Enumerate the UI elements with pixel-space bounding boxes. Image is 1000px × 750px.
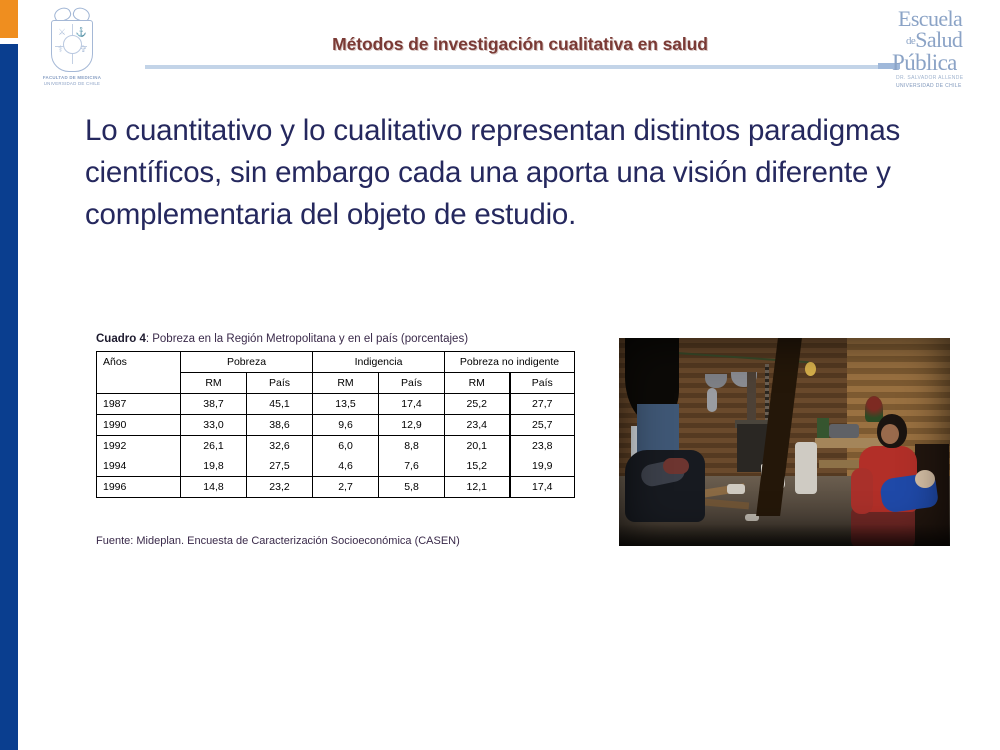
table-cell-value: 12,9 bbox=[379, 415, 445, 436]
page-title: Métodos de investigación cualitativa en … bbox=[140, 34, 900, 55]
table-subheader-blank bbox=[97, 373, 181, 394]
table-cell-value: 20,1 bbox=[445, 436, 510, 457]
table-cell-value: 2,7 bbox=[313, 477, 379, 498]
table-header-years: Años bbox=[97, 352, 181, 373]
esp-logo-sub-allende: DR. SALVADOR ALLENDE bbox=[896, 76, 963, 81]
table-cell-value: 15,2 bbox=[445, 456, 510, 477]
crest-shield-icon: ⚔ ⚓ ⚕ ✞ bbox=[51, 20, 93, 72]
table-caption: Cuadro 4: Pobreza en la Región Metropoli… bbox=[96, 333, 574, 345]
esp-logo-de: de bbox=[906, 35, 915, 47]
photo-vignette bbox=[619, 338, 950, 546]
table-cell-value: 7,6 bbox=[379, 456, 445, 477]
table-cell-value: 25,2 bbox=[445, 394, 510, 415]
statistics-table-block: Cuadro 4: Pobreza en la Región Metropoli… bbox=[96, 333, 574, 498]
table-cell-year: 1996 bbox=[97, 477, 181, 498]
esp-logo-salud: Salud bbox=[915, 27, 962, 52]
table-cell-year: 1992 bbox=[97, 436, 181, 457]
table-subheader-pobreza-pais: País bbox=[247, 373, 313, 394]
table-cell-value: 32,6 bbox=[247, 436, 313, 457]
slide-header: ⚔ ⚓ ⚕ ✞ FACULTAD DE MEDICINA UNIVERSIDAD… bbox=[0, 0, 1000, 100]
table-cell-value: 9,6 bbox=[313, 415, 379, 436]
table-cell-year: 1990 bbox=[97, 415, 181, 436]
table-cell-value: 17,4 bbox=[379, 394, 445, 415]
table-cell-value: 23,4 bbox=[445, 415, 510, 436]
table-cell-value: 38,7 bbox=[181, 394, 247, 415]
table-cell-value: 38,6 bbox=[247, 415, 313, 436]
table-source-note: Fuente: Mideplan. Encuesta de Caracteriz… bbox=[96, 535, 460, 547]
crest-quarter-3-icon: ⚕ bbox=[58, 45, 63, 54]
table-cell-value: 27,7 bbox=[510, 394, 575, 415]
table-cell-value: 19,8 bbox=[181, 456, 247, 477]
poverty-statistics-table: Años Pobreza Indigencia Pobreza no indig… bbox=[96, 351, 575, 498]
accent-bar-blue bbox=[0, 44, 18, 750]
table-cell-value: 13,5 bbox=[313, 394, 379, 415]
table-row: 1992 26,1 32,6 6,0 8,8 20,1 23,8 bbox=[97, 436, 575, 457]
escuela-de-salud-publica-logo: Escuela deSalud Pública DR. SALVADOR ALL… bbox=[890, 6, 990, 92]
poverty-dwelling-photo bbox=[619, 338, 950, 546]
crest-center-circle-icon bbox=[63, 35, 82, 54]
table-cell-value: 25,7 bbox=[510, 415, 575, 436]
table-cell-value: 5,8 bbox=[379, 477, 445, 498]
table-subheader-indigencia-pais: País bbox=[379, 373, 445, 394]
crest-wreath-icon bbox=[54, 6, 90, 20]
esp-logo-sub-universidad: UNIVERSIDAD DE CHILE bbox=[896, 84, 962, 89]
table-header-indigencia: Indigencia bbox=[313, 352, 445, 373]
esp-logo-line-publica: Pública bbox=[892, 51, 957, 74]
table-cell-value: 23,8 bbox=[510, 436, 575, 457]
table-cell-value: 12,1 bbox=[445, 477, 510, 498]
table-caption-rest: : Pobreza en la Región Metropolitana y e… bbox=[146, 333, 468, 345]
table-cell-value: 14,8 bbox=[181, 477, 247, 498]
table-cell-year: 1987 bbox=[97, 394, 181, 415]
table-cell-value: 26,1 bbox=[181, 436, 247, 457]
table-cell-value: 19,9 bbox=[510, 456, 575, 477]
table-header-pobreza: Pobreza bbox=[181, 352, 313, 373]
table-row: 1996 14,8 23,2 2,7 5,8 12,1 17,4 bbox=[97, 477, 575, 498]
slide-body-paragraph: Lo cuantitativo y lo cualitativo represe… bbox=[85, 110, 950, 236]
table-cell-value: 27,5 bbox=[247, 456, 313, 477]
table-caption-lead: Cuadro 4 bbox=[96, 333, 146, 345]
table-row: 1990 33,0 38,6 9,6 12,9 23,4 25,7 bbox=[97, 415, 575, 436]
esp-logo-line-salud: deSalud bbox=[906, 29, 962, 51]
table-cell-value: 6,0 bbox=[313, 436, 379, 457]
title-divider-rule bbox=[145, 65, 888, 69]
table-header-sub-row: RM País RM País RM País bbox=[97, 373, 575, 394]
table-subheader-noindigente-pais: País bbox=[510, 373, 575, 394]
table-cell-value: 45,1 bbox=[247, 394, 313, 415]
table-cell-value: 23,2 bbox=[247, 477, 313, 498]
table-cell-value: 8,8 bbox=[379, 436, 445, 457]
table-cell-value: 17,4 bbox=[510, 477, 575, 498]
table-cell-value: 33,0 bbox=[181, 415, 247, 436]
crest-caption-line2: UNIVERSIDAD DE CHILE bbox=[38, 81, 106, 87]
table-row: 1987 38,7 45,1 13,5 17,4 25,2 27,7 bbox=[97, 394, 575, 415]
table-subheader-noindigente-rm: RM bbox=[445, 373, 510, 394]
table-cell-value: 4,6 bbox=[313, 456, 379, 477]
table-cell-year: 1994 bbox=[97, 456, 181, 477]
table-row: 1994 19,8 27,5 4,6 7,6 15,2 19,9 bbox=[97, 456, 575, 477]
crest-quarter-1-icon: ⚔ bbox=[58, 28, 66, 37]
table-subheader-pobreza-rm: RM bbox=[181, 373, 247, 394]
table-header-group-row: Años Pobreza Indigencia Pobreza no indig… bbox=[97, 352, 575, 373]
table-subheader-indigencia-rm: RM bbox=[313, 373, 379, 394]
table-header-pobreza-no-indigente: Pobreza no indigente bbox=[445, 352, 575, 373]
facultad-de-medicina-crest-icon: ⚔ ⚓ ⚕ ✞ FACULTAD DE MEDICINA UNIVERSIDAD… bbox=[38, 4, 106, 86]
